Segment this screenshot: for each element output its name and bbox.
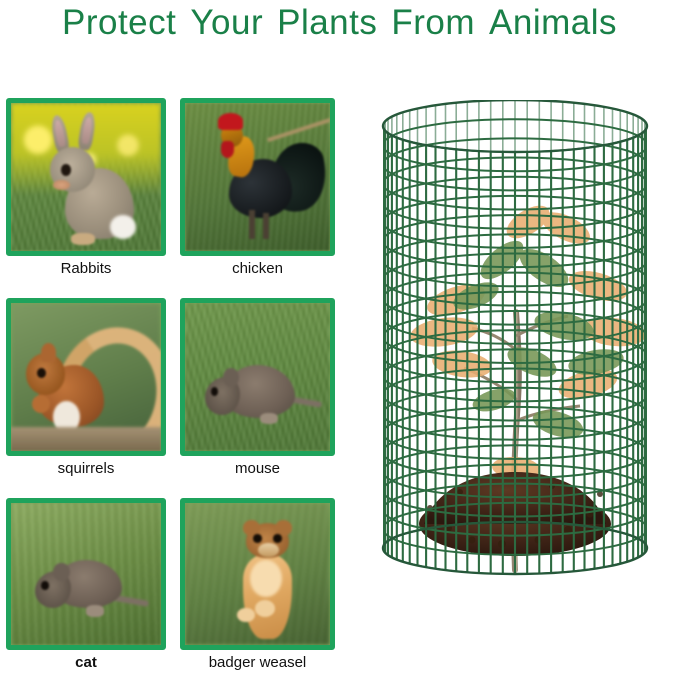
photo-rooster <box>185 103 330 251</box>
gallery-item-cat: cat <box>6 498 166 684</box>
product-illustration <box>352 100 679 600</box>
page-title: ProtectYourPlantsFromAnimals <box>0 0 679 50</box>
title-word-5: Animals <box>489 3 617 42</box>
gallery-item-rabbits: Rabbits <box>6 98 166 290</box>
thumbnail-chicken <box>180 98 335 256</box>
caption-squirrels: squirrels <box>6 460 166 477</box>
infographic-root: ProtectYourPlantsFromAnimals Ra <box>0 0 679 684</box>
animal-gallery: Rabbits chicken <box>0 90 350 684</box>
photo-weasel <box>185 503 330 645</box>
wire-mesh-cage-svg <box>352 100 679 600</box>
caption-badger-weasel: badger weasel <box>180 654 335 671</box>
gallery-item-chicken: chicken <box>180 98 335 290</box>
thumbnail-badger-weasel <box>180 498 335 650</box>
photo-mouse <box>185 303 330 451</box>
photo-squirrel <box>11 303 161 451</box>
title-word-4: From <box>391 3 475 42</box>
caption-mouse: mouse <box>180 460 335 477</box>
gallery-item-badger-weasel: badger weasel <box>180 498 335 684</box>
thumbnail-rabbits <box>6 98 166 256</box>
caption-rabbits: Rabbits <box>6 260 166 277</box>
photo-rabbit <box>11 103 161 251</box>
caption-cat: cat <box>6 654 166 671</box>
gallery-item-mouse: mouse <box>180 298 335 490</box>
thumbnail-mouse <box>180 298 335 456</box>
photo-rat <box>11 503 161 645</box>
mesh-grid <box>383 100 647 574</box>
thumbnail-squirrels <box>6 298 166 456</box>
title-word-3: Plants <box>277 3 377 42</box>
title-word-2: Your <box>190 3 263 42</box>
title-word-1: Protect <box>62 3 176 42</box>
thumbnail-cat <box>6 498 166 650</box>
gallery-item-squirrels: squirrels <box>6 298 166 490</box>
caption-chicken: chicken <box>180 260 335 277</box>
